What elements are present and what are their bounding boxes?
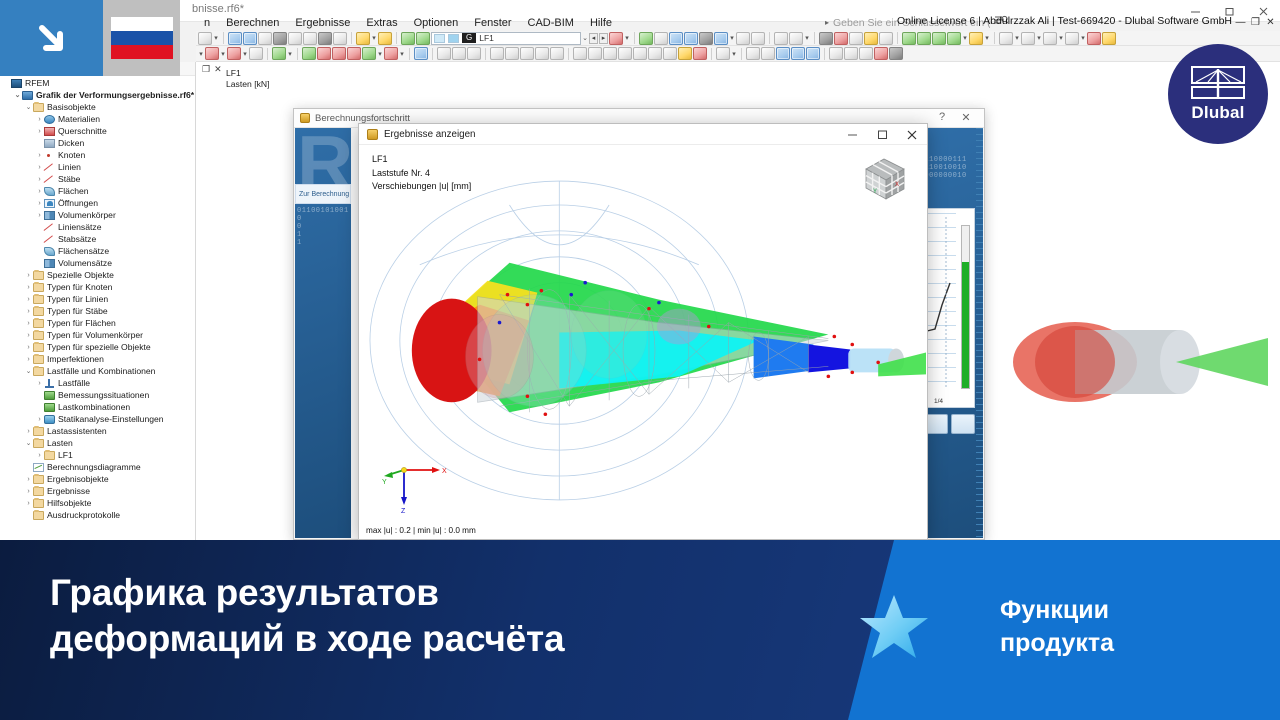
folder-icon [33, 283, 44, 292]
chevron-right-icon[interactable]: › [24, 344, 33, 351]
results-status-bar: max |u| : 0.2 | min |u| : 0.0 mm [366, 526, 476, 535]
highlight-icon[interactable] [969, 32, 983, 45]
progress-bar [961, 225, 970, 389]
tree-item-ausdruckprotokolle[interactable]: Ausdruckprotokolle [0, 509, 195, 521]
print-icon[interactable] [303, 32, 317, 45]
results-info-block: LF1 Laststufe Nr. 4 Verschiebungen |u| [… [372, 153, 471, 194]
edit-block-icon[interactable] [864, 32, 878, 45]
svg-text:Y: Y [382, 479, 387, 486]
chevron-right-icon[interactable]: › [35, 116, 44, 123]
tree-item-typen-für-knoten[interactable]: ›Typen für Knoten [0, 281, 195, 293]
chevron-right-icon[interactable]: › [35, 128, 44, 135]
menu-item-0[interactable]: n [196, 17, 218, 29]
tree-item-typen-für-volumenkörper[interactable]: ›Typen für Volumenkörper [0, 329, 195, 341]
arc-icon[interactable] [505, 47, 519, 60]
cross-section-icon [44, 127, 55, 136]
tree-item-label: Liniensätze [58, 222, 101, 232]
folder-icon [33, 343, 44, 352]
menu-item-fenster[interactable]: Fenster [466, 17, 519, 29]
axis-tripod: X Y Z [382, 458, 452, 514]
chevron-right-icon[interactable]: › [24, 308, 33, 315]
tree-item-stäbe[interactable]: ›Stäbe [0, 173, 195, 185]
line-set-icon [44, 223, 55, 232]
solid-color-icon[interactable] [1102, 32, 1116, 45]
toolbar-separator [351, 32, 352, 44]
menu-item-extras[interactable]: Extras [358, 17, 405, 29]
new-node-dropdown-icon[interactable]: ▾ [287, 50, 293, 58]
tree-item-label: Volumenkörper [58, 210, 116, 220]
tab-restore-icon[interactable]: ❐ [202, 64, 210, 75]
load-case-chevron-down-icon[interactable]: ⌄ [582, 34, 588, 42]
member-hinge-icon[interactable] [669, 32, 683, 45]
move-dropdown-icon[interactable]: ▾ [242, 50, 248, 58]
tree-item-bemessungssituationen[interactable]: Bemessungssituationen [0, 389, 195, 401]
menu-item-optionen[interactable]: Optionen [406, 17, 467, 29]
toolbar-separator [711, 48, 712, 60]
surface-support-icon[interactable] [684, 32, 698, 45]
axis-dropdown-icon[interactable]: ▾ [962, 34, 968, 42]
tree-item-typen-für-linien[interactable]: ›Typen für Linien [0, 293, 195, 305]
view-direction-dropdown-icon[interactable]: ▾ [1036, 34, 1042, 42]
view-panel-icon[interactable] [228, 32, 242, 45]
new-opening-icon[interactable] [347, 47, 361, 60]
dimension-line-icon[interactable] [789, 32, 803, 45]
copy-block-icon[interactable] [879, 32, 893, 45]
animation-icon[interactable] [791, 47, 805, 60]
toolbar-row-2: ▾ ▾ ▾ ▾ ▾ ▾ [196, 46, 1280, 62]
rotate-icon[interactable] [648, 47, 662, 60]
pin-icon[interactable] [693, 47, 707, 60]
progress-step-label: 1/4 [934, 398, 943, 405]
document-tab[interactable]: ❐ ✕ [198, 62, 226, 76]
chevron-down-icon[interactable]: ⌄ [24, 103, 33, 111]
result-values-icon[interactable] [761, 47, 775, 60]
tree-item-lasten[interactable]: ⌄Lasten [0, 437, 195, 449]
model-icon [22, 91, 33, 100]
calculation-status-label: Zur Berechnung [299, 191, 349, 198]
design-situation-icon [44, 391, 55, 400]
chevron-right-icon[interactable]: › [35, 200, 44, 207]
row2-dropdown-icon[interactable]: ▾ [198, 50, 204, 58]
tree-item-label: Statikanalyse-Einstellungen [58, 414, 164, 424]
chevron-right-icon[interactable]: › [35, 188, 44, 195]
tree-item-berechnungsdiagramme[interactable]: Berechnungsdiagramme [0, 461, 195, 473]
angle-icon[interactable] [490, 47, 504, 60]
toolbar-separator [267, 48, 268, 60]
chevron-down-icon[interactable]: ⌄ [24, 439, 33, 447]
tree-item-label: Linien [58, 162, 81, 172]
chevron-right-icon[interactable]: › [35, 452, 44, 459]
chevron-right-icon[interactable]: › [24, 320, 33, 327]
folder-icon [33, 487, 44, 496]
grid-icon[interactable] [378, 32, 392, 45]
tree-item-imperfektionen[interactable]: ›Imperfektionen [0, 353, 195, 365]
chevron-right-icon[interactable]: › [24, 272, 33, 279]
new-solid-dropdown-icon[interactable]: ▾ [377, 50, 383, 58]
tree-item-materialien[interactable]: ›Materialien [0, 113, 195, 125]
imperfection-icon[interactable] [819, 32, 833, 45]
tree-item-rfem[interactable]: RFEM [0, 77, 195, 89]
svg-text:X: X [442, 468, 447, 475]
tree-item-label: Öffnungen [58, 198, 98, 208]
diagram-icon[interactable] [716, 47, 730, 60]
tree-item-flächensätze[interactable]: Flächensätze [0, 245, 195, 257]
solid-set-icon [44, 259, 55, 268]
surface-set-icon [44, 247, 55, 256]
toolbar-separator [223, 32, 224, 44]
tree-item-label: Typen für Linien [47, 294, 108, 304]
new-solid-icon[interactable] [362, 47, 376, 60]
banner-badge-line-2: продукта [1000, 627, 1260, 660]
solid-icon[interactable] [699, 32, 713, 45]
solid-dropdown-icon[interactable]: ▾ [729, 34, 735, 42]
deformation-icon[interactable] [776, 47, 790, 60]
tree-item-linien[interactable]: ›Linien [0, 161, 195, 173]
axis-z-icon[interactable] [932, 32, 946, 45]
section-icon[interactable] [1043, 32, 1057, 45]
results-app-icon [367, 129, 378, 140]
dimension-icon[interactable] [258, 32, 272, 45]
tree-item-lf1[interactable]: ›LF1 [0, 449, 195, 461]
bottom-banner: Графика результатов деформаций в ходе ра… [0, 540, 1280, 720]
work-area-legend: LF1 Lasten [kN] [226, 68, 269, 90]
tree-item-typen-für-flächen[interactable]: ›Typen für Flächen [0, 317, 195, 329]
block-icon[interactable] [849, 32, 863, 45]
chevron-right-icon[interactable]: › [35, 416, 44, 423]
tree-item-typen-für-spezielle-objekte[interactable]: ›Typen für spezielle Objekte [0, 341, 195, 353]
tree-item-label: Grafik der Verformungsergebnisse.rf6* [36, 90, 194, 100]
tree-item-label: Materialien [58, 114, 100, 124]
flag-stripe-red [111, 45, 173, 59]
undo-dropdown-icon[interactable]: ▾ [213, 34, 219, 42]
line-support-icon[interactable] [654, 32, 668, 45]
tree-item-label: Lastkombinationen [58, 402, 130, 412]
load-case-prev-button[interactable]: ◂ [589, 33, 598, 44]
delete-results-dropdown-icon[interactable]: ▾ [624, 34, 630, 42]
align-bottom-icon[interactable] [603, 47, 617, 60]
member-set-icon [44, 235, 55, 244]
snap-box-icon[interactable] [467, 47, 481, 60]
align-middle-icon[interactable] [588, 47, 602, 60]
tree-item-volumenkörper[interactable]: ›Volumenkörper [0, 209, 195, 221]
menu-item-hilfe[interactable]: Hilfe [582, 17, 620, 29]
tree-item-label: Bemessungssituationen [58, 390, 149, 400]
chevron-right-icon[interactable]: › [24, 296, 33, 303]
flag-stripe-blue [111, 31, 173, 45]
layers-icon[interactable] [999, 32, 1013, 45]
tree-item-hilfsobjekte[interactable]: ›Hilfsobjekte [0, 497, 195, 509]
mirror-icon[interactable] [633, 47, 647, 60]
measure-icon[interactable] [829, 47, 843, 60]
tree-item-flächen[interactable]: ›Flächen [0, 185, 195, 197]
progress-chart-plot [926, 213, 956, 391]
folder-icon [33, 307, 44, 316]
folder-icon [33, 475, 44, 484]
tree-item-label: LF1 [58, 450, 73, 460]
slope-icon[interactable] [550, 47, 564, 60]
loads-dropdown-icon[interactable]: ▾ [371, 34, 377, 42]
results-load-step: Laststufe Nr. 4 [372, 167, 471, 181]
folder-icon [33, 367, 44, 376]
results-3d-viewport[interactable]: LF1 Laststufe Nr. 4 Verschiebungen |u| [… [360, 145, 926, 538]
tree-item-knoten[interactable]: ›Knoten [0, 149, 195, 161]
svg-text:Y: Y [873, 189, 877, 195]
dlubal-logo: Dlubal [1168, 44, 1268, 144]
result-member-icon[interactable] [416, 32, 430, 45]
tree-item-volumensätze[interactable]: Volumensätze [0, 257, 195, 269]
flag-stripe-white [111, 17, 173, 31]
view-cube-icon[interactable]: Y X [858, 153, 910, 205]
axis-x-icon[interactable] [902, 32, 916, 45]
distribute-icon[interactable] [618, 47, 632, 60]
toolbar-separator [994, 32, 995, 44]
folder-icon [33, 331, 44, 340]
tree-item-typen-für-stäbe[interactable]: ›Typen für Stäbe [0, 305, 195, 317]
toolbar-separator [485, 48, 486, 60]
chevron-down-icon[interactable]: ⌄ [24, 367, 33, 375]
tree-item-statikanalyse-einstellungen[interactable]: ›Statikanalyse-Einstellungen [0, 413, 195, 425]
tree-item-grafik-der-verformungsergebnisse-rf6[interactable]: ⌄Grafik der Verformungsergebnisse.rf6* [0, 89, 195, 101]
result-surface-icon[interactable] [401, 32, 415, 45]
result-diagram-icon[interactable] [806, 47, 820, 60]
new-node-icon[interactable] [272, 47, 286, 60]
dlubal-mark-icon [1190, 66, 1246, 100]
tree-item-label: Typen für Knoten [47, 282, 112, 292]
legend-load-case: LF1 [226, 68, 269, 79]
mesh-icon[interactable] [1087, 32, 1101, 45]
highlight-dropdown-icon[interactable]: ▾ [984, 34, 990, 42]
tree-item-ergebnisobjekte[interactable]: ›Ergebnisobjekte [0, 473, 195, 485]
toolbar-separator [634, 32, 635, 44]
line-icon [44, 163, 55, 172]
toolbar-separator [432, 48, 433, 60]
dimension-dropdown-icon[interactable]: ▾ [804, 34, 810, 42]
tree-item-dicken[interactable]: Dicken [0, 137, 195, 149]
svg-text:X: X [895, 182, 899, 188]
chevron-right-icon[interactable]: › [24, 284, 33, 291]
tree-item-lastfälle[interactable]: ›Lastfälle [0, 377, 195, 389]
tree-item-ergebnisse[interactable]: ›Ergebnisse [0, 485, 195, 497]
delete-icon[interactable] [834, 32, 848, 45]
tree-item-label: Berechnungsdiagramme [47, 462, 141, 472]
toolbar-separator [409, 48, 410, 60]
load-case-next-button[interactable]: ▸ [599, 33, 608, 44]
legend-unit: Lasten [kN] [226, 79, 269, 90]
scale-icon[interactable] [663, 47, 677, 60]
tree-item-label: Flächensätze [58, 246, 109, 256]
progress-help-button[interactable]: ? [934, 111, 950, 123]
project-icon[interactable] [678, 47, 692, 60]
menu-bar: n Berechnen Ergebnisse Extras Optionen F… [0, 14, 1280, 31]
solid-icon [44, 211, 55, 220]
new-support-dropdown-icon[interactable]: ▾ [399, 50, 405, 58]
toolbar-separator [741, 48, 742, 60]
results-dialog: Ergebnisse anzeigen [358, 123, 928, 540]
nodal-release-icon[interactable] [736, 32, 750, 45]
calculation-status-strip: Zur Berechnung [295, 184, 351, 204]
close-x-icon[interactable] [874, 47, 888, 60]
surface-icon [44, 187, 55, 196]
tree-item-label: Hilfsobjekte [47, 498, 91, 508]
folder-icon [33, 103, 44, 112]
folder-icon [33, 427, 44, 436]
tree-item-basisobjekte[interactable]: ⌄Basisobjekte [0, 101, 195, 113]
chevron-right-icon[interactable]: › [24, 476, 33, 483]
tree-item-label: Lasten [47, 438, 73, 448]
toolbar-separator [568, 48, 569, 60]
tree-item-querschnitte[interactable]: ›Querschnitte [0, 125, 195, 137]
section-dropdown-icon[interactable]: ▾ [1058, 34, 1064, 42]
tree-item-spezielle-objekte[interactable]: ›Spezielle Objekte [0, 269, 195, 281]
toolbar-separator [396, 32, 397, 44]
new-support-icon[interactable] [384, 47, 398, 60]
tree-item-lastassistenten[interactable]: ›Lastassistenten [0, 425, 195, 437]
tree-item-label: Flächen [58, 186, 89, 196]
tree-item-liniensätze[interactable]: Liniensätze [0, 221, 195, 233]
menu-item-ergebnisse[interactable]: Ergebnisse [287, 17, 358, 29]
new-member-icon[interactable] [317, 47, 331, 60]
arrow-glyph [30, 16, 74, 60]
node-support-icon[interactable] [639, 32, 653, 45]
tree-item-stabsätze[interactable]: Stabsätze [0, 233, 195, 245]
view-direction-icon[interactable] [1021, 32, 1035, 45]
folder-icon [33, 355, 44, 364]
progress-bar-fill [962, 262, 969, 388]
menu-item-berechnen[interactable]: Berechnen [218, 17, 287, 29]
line-release-icon[interactable] [751, 32, 765, 45]
opening-icon [44, 199, 55, 208]
view-window-icon[interactable] [243, 32, 257, 45]
chevron-down-icon[interactable]: ⌄ [13, 91, 22, 99]
chevron-right-icon[interactable]: › [35, 212, 44, 219]
clipping-dropdown-icon[interactable]: ▾ [1080, 34, 1086, 42]
banner-title-line-1: Графика результатов [50, 570, 810, 616]
svg-text:Z: Z [401, 508, 406, 514]
render-icon[interactable] [288, 32, 302, 45]
loads-icon[interactable] [356, 32, 370, 45]
chevron-right-icon[interactable]: › [24, 488, 33, 495]
results-maximize-button[interactable] [867, 124, 897, 145]
thickness-icon [44, 139, 55, 148]
tree-item-label: Lastfälle und Kombinationen [47, 366, 155, 376]
new-line-icon[interactable] [302, 47, 316, 60]
folder-icon [33, 319, 44, 328]
progress-app-icon [300, 113, 310, 123]
banner-title-line-2: деформаций в ходе расчёта [50, 616, 810, 662]
select-dropdown-icon[interactable]: ▾ [220, 50, 226, 58]
chevron-right-icon[interactable]: › [24, 428, 33, 435]
filter-icon[interactable] [414, 47, 428, 60]
load-case-combobox[interactable]: G LF1 [431, 32, 581, 45]
chevron-right-icon[interactable]: › [35, 152, 44, 159]
report-icon[interactable] [318, 32, 332, 45]
results-minimize-button[interactable] [837, 124, 867, 145]
table-icon[interactable] [273, 32, 287, 45]
chevron-right-icon[interactable]: › [24, 500, 33, 507]
solid-contact-icon[interactable] [714, 32, 728, 45]
result-table-icon[interactable] [746, 47, 760, 60]
load-combination-icon [44, 403, 55, 412]
tree-item-label: Ausdruckprotokolle [47, 510, 120, 520]
toolbar-separator [297, 48, 298, 60]
axis-y-icon[interactable] [917, 32, 931, 45]
load-case-badge: G [462, 33, 476, 43]
results-close-button[interactable] [897, 124, 927, 145]
banner-title: Графика результатов деформаций в ходе ра… [50, 570, 810, 662]
menu-item-cad-bim[interactable]: CAD-BIM [520, 17, 582, 29]
new-surface-icon[interactable] [332, 47, 346, 60]
load-case-swatch-2 [448, 34, 459, 43]
tree-item-label: Lastassistenten [47, 426, 107, 436]
select-objects-icon[interactable] [205, 47, 219, 60]
tree-item-label: Dicken [58, 138, 84, 148]
move-objects-icon[interactable] [227, 47, 241, 60]
banner-badge-line-1: Функции [1000, 594, 1260, 627]
progress-toolbar [923, 414, 975, 434]
toolbar-separator [769, 32, 770, 44]
tree-item-öffnungen[interactable]: ›Öffnungen [0, 197, 195, 209]
tree-item-lastkombinationen[interactable]: Lastkombinationen [0, 401, 195, 413]
offset-icon[interactable] [535, 47, 549, 60]
align-top-icon[interactable] [573, 47, 587, 60]
star-icon [858, 592, 930, 662]
tree-item-label: Knoten [58, 150, 85, 160]
settings-icon[interactable] [951, 414, 976, 434]
progress-ruler [976, 128, 983, 538]
rfem-icon [11, 79, 22, 88]
layers-dropdown-icon[interactable]: ▾ [1014, 34, 1020, 42]
diagram-dropdown-icon[interactable]: ▾ [731, 50, 737, 58]
delete-results-icon[interactable] [609, 32, 623, 45]
materials-icon [44, 115, 55, 124]
tree-item-label: Ergebnisse [47, 486, 90, 496]
load-case-icon [44, 379, 55, 388]
folder-icon [33, 271, 44, 280]
tree-item-label: Imperfektionen [47, 354, 104, 364]
banner-badge-text: Функции продукта [1000, 594, 1260, 660]
tree-item-lastfälle-und-kombinationen[interactable]: ⌄Lastfälle und Kombinationen [0, 365, 195, 377]
rigid-link-icon[interactable] [774, 32, 788, 45]
circle-icon[interactable] [844, 47, 858, 60]
progress-chart: 1/4 [923, 208, 975, 408]
results-quantity: Verschiebungen |u| [mm] [372, 180, 471, 194]
axis-all-icon[interactable] [947, 32, 961, 45]
snap-corner-icon[interactable] [437, 47, 451, 60]
camera-icon[interactable] [889, 47, 903, 60]
tab-close-icon[interactable]: ✕ [214, 64, 222, 75]
progress-close-button[interactable]: ✕ [958, 111, 974, 124]
folder-icon [33, 439, 44, 448]
folder-icon [33, 511, 44, 520]
warning-icon[interactable] [859, 47, 873, 60]
chevron-right-icon[interactable]: › [35, 380, 44, 387]
folder-icon [44, 451, 55, 460]
background-model-preview [980, 252, 1280, 472]
clipping-icon[interactable] [1065, 32, 1079, 45]
snap-arc-icon[interactable] [452, 47, 466, 60]
tree-item-label: Typen für Stäbe [47, 306, 108, 316]
chart-icon [33, 463, 44, 472]
chevron-right-icon[interactable]: › [24, 332, 33, 339]
tree-item-label: Spezielle Objekte [47, 270, 114, 280]
tree-item-label: Querschnitte [58, 126, 107, 136]
extrude-icon[interactable] [249, 47, 263, 60]
tree-item-label: Lastfälle [58, 378, 90, 388]
chevron-right-icon[interactable]: › [24, 356, 33, 363]
undo-icon[interactable] [198, 32, 212, 45]
rectangle-icon[interactable] [520, 47, 534, 60]
globe-icon[interactable] [333, 32, 347, 45]
